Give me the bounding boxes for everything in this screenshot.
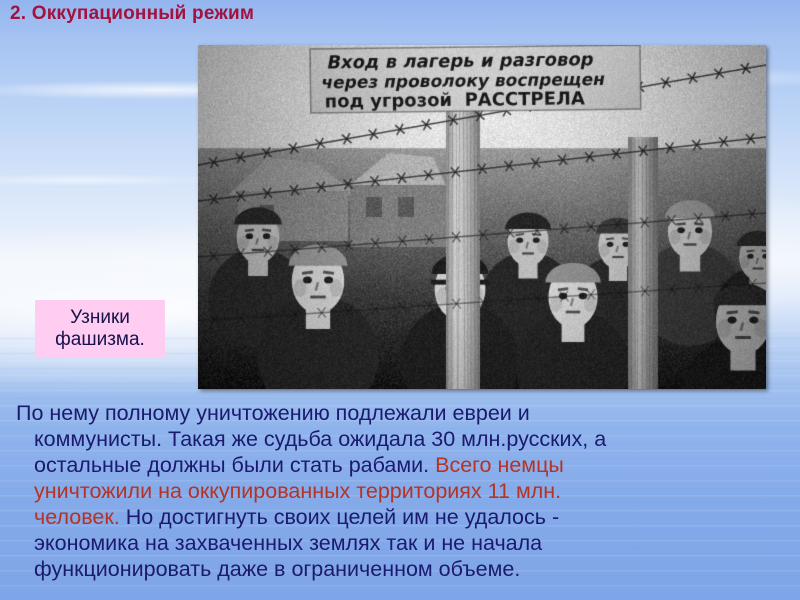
body-line-text-highlight: уничтожили на оккупированных территориях… xyxy=(34,479,561,503)
body-line-text: функционировать даже в ограниченном объе… xyxy=(34,557,520,581)
body-line-text: Но достигнуть своих целей им не удалось … xyxy=(120,505,559,529)
page-title: 2. Оккупационный режим xyxy=(10,3,254,25)
body-line: человек. Но достигнуть своих целей им не… xyxy=(16,504,784,530)
presentation-slide: 2. Оккупационный режим Вход в лагерь и р… xyxy=(0,0,800,600)
historical-photo-canvas xyxy=(198,45,766,389)
body-line-text-highlight: человек. xyxy=(34,505,120,529)
body-line-text: остальные должны были стать рабами. xyxy=(34,453,435,477)
historical-photo: Вход в лагерь и разговор через проволоку… xyxy=(198,45,766,389)
body-line: По нему полному уничтожению подлежали ев… xyxy=(16,400,784,426)
body-line-text: коммунисты. Такая же судьба ожидала 30 м… xyxy=(34,427,606,451)
body-text-block: По нему полному уничтожению подлежали ев… xyxy=(16,400,784,582)
callout-box: Узники фашизма. xyxy=(35,300,165,357)
body-line: экономика на захваченных землях так и не… xyxy=(16,530,784,556)
body-line: остальные должны были стать рабами. Всег… xyxy=(16,452,784,478)
body-line-text: экономика на захваченных землях так и не… xyxy=(34,531,542,555)
callout-line-1: Узники xyxy=(70,307,130,328)
body-line-text: По нему полному уничтожению подлежали ев… xyxy=(16,401,530,425)
body-line-text-highlight: Всего немцы xyxy=(435,453,564,477)
body-line: функционировать даже в ограниченном объе… xyxy=(16,556,784,582)
callout-line-2: фашизма. xyxy=(55,329,145,350)
body-paragraph: По нему полному уничтожению подлежали ев… xyxy=(16,400,784,582)
body-line: уничтожили на оккупированных территориях… xyxy=(16,478,784,504)
body-line: коммунисты. Такая же судьба ожидала 30 м… xyxy=(16,426,784,452)
